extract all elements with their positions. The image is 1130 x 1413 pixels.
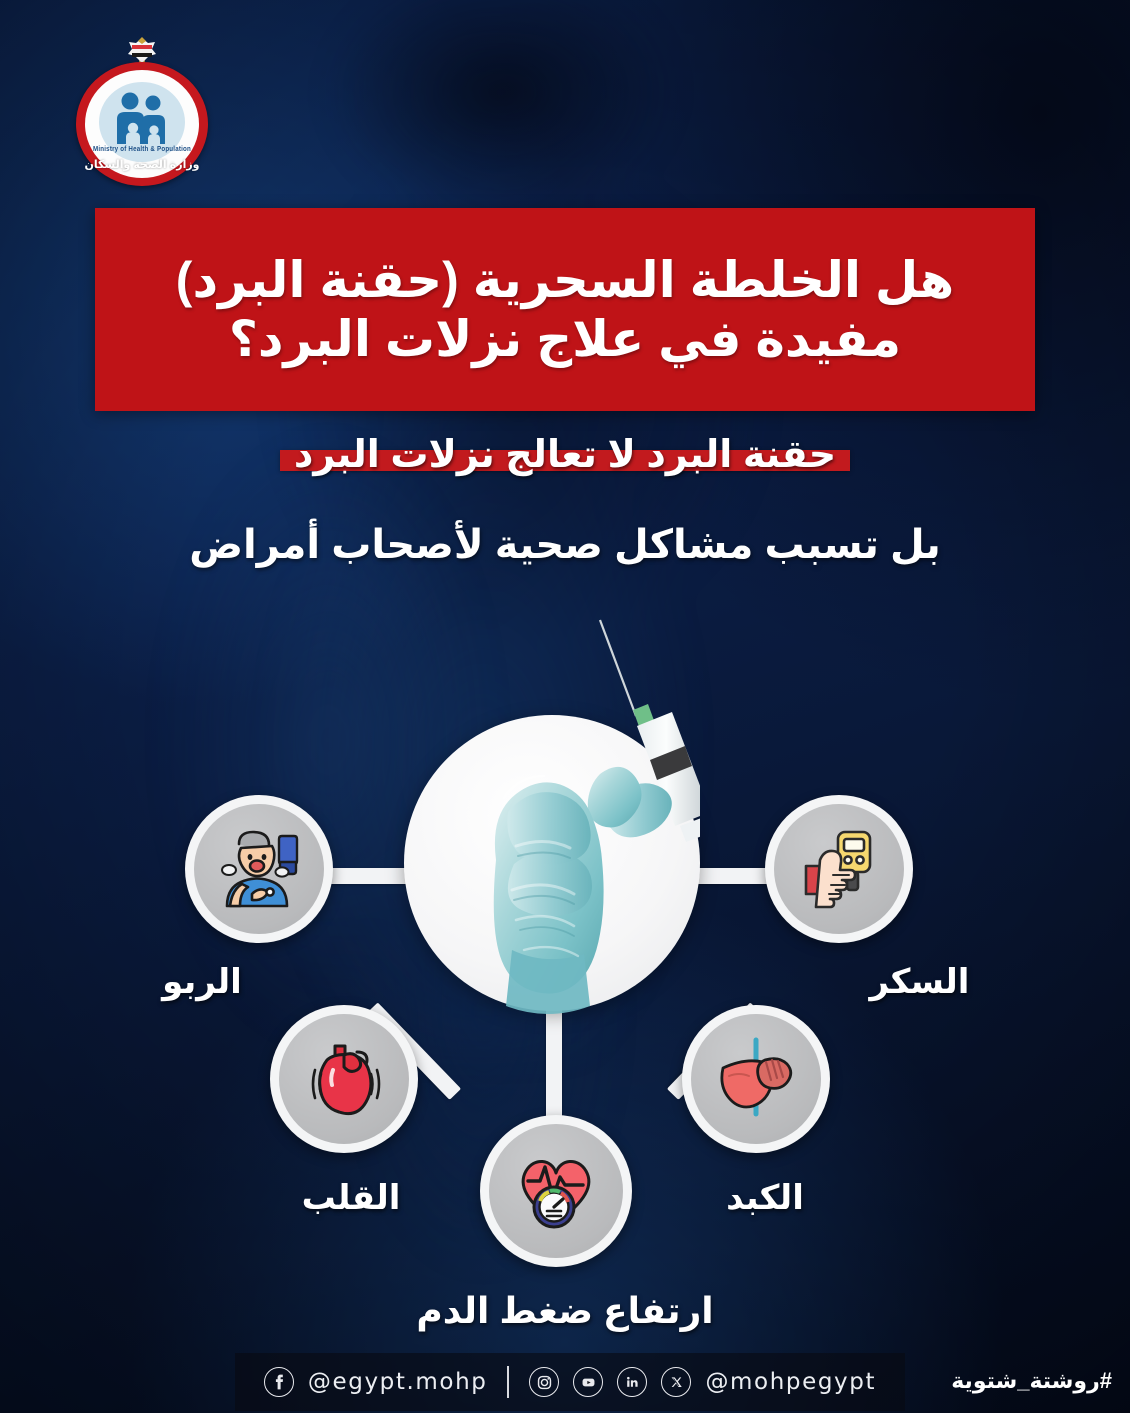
node-label-hypertension: ارتفاع ضغط الدم [375,1290,755,1332]
headline-banner: هل الخلطة السحرية (حقنة البرد) مفيدة في … [95,208,1035,411]
node-label-diabetes: السكر [852,962,987,1002]
subtitle-line-2: بل تسبب مشاكل صحية لأصحاب أمراض [95,522,1035,568]
headline-line-2: مفيدة في علاج نزلات البرد؟ [229,313,901,366]
logo-english-text: Ministry of Health & Population [76,145,208,153]
node-heart[interactable] [270,1005,418,1153]
poster-canvas: Ministry of Health & Population وزارة ال… [0,0,1130,1413]
linkedin-icon[interactable] [617,1367,647,1397]
subtitle-highlighted-wrapper: حقنة البرد لا تعالج نزلات البرد [95,432,1035,477]
headline-line-1: هل الخلطة السحرية (حقنة البرد) [176,254,954,307]
x-twitter-icon[interactable] [661,1367,691,1397]
footer-divider [507,1366,509,1398]
facebook-handle[interactable]: @egypt.mohp [308,1369,488,1395]
logo-red-disc: Ministry of Health & Population وزارة ال… [76,62,208,186]
glucometer-icon [792,822,886,916]
diagram-hub-circle [404,715,700,1011]
other-social-handle[interactable]: @mohpegypt [705,1369,876,1395]
instagram-icon[interactable] [529,1367,559,1397]
node-label-liver: الكبد [700,1178,830,1218]
social-footer-bar: @egypt.mohp [235,1353,905,1411]
subtitle-highlight: حقنة البرد لا تعالج نزلات البرد [284,432,846,477]
node-asthma[interactable] [185,795,333,943]
logo-arabic-text: وزارة الصحة والسكان [76,158,208,171]
risk-groups-diagram: الربو السكر [0,590,1130,1350]
youtube-icon[interactable] [573,1367,603,1397]
node-liver[interactable] [682,1005,830,1153]
ministry-logo: Ministry of Health & Population وزارة ال… [76,36,208,186]
node-label-asthma: الربو [142,962,262,1002]
node-label-heart: القلب [286,1178,416,1218]
node-diabetes[interactable] [765,795,913,943]
asthma-inhaler-icon [212,822,306,916]
subtitle-line-1: حقنة البرد لا تعالج نزلات البرد [294,434,836,476]
node-hypertension[interactable] [480,1115,632,1267]
heart-organ-icon [297,1032,391,1126]
facebook-icon[interactable] [264,1367,294,1397]
blood-pressure-heart-gauge-icon [508,1143,604,1239]
campaign-hashtag: #روشتة_شتوية [951,1368,1112,1394]
liver-organ-icon [709,1032,803,1126]
connector-hub-to-hypertension [546,1008,562,1128]
